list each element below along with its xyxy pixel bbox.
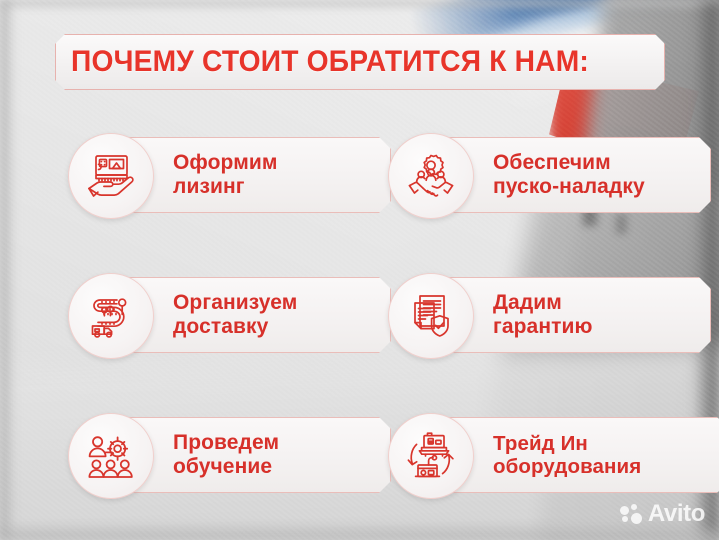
feature-icon-badge bbox=[68, 133, 154, 219]
handshake-gear-people-icon bbox=[405, 150, 457, 202]
hand-holding-machine-icon bbox=[85, 150, 137, 202]
feature-pill: Организуем доставку bbox=[114, 277, 391, 353]
feature-icon-badge bbox=[388, 413, 474, 499]
feature-grid: Оформим лизинг bbox=[0, 0, 719, 540]
feature-pill: Проведем обучение bbox=[114, 417, 391, 493]
truck-route-icon bbox=[84, 289, 138, 343]
document-shield-check-icon bbox=[405, 290, 457, 342]
feature-icon-badge bbox=[68, 273, 154, 359]
feature-pill: Обеспечим пуско-наладку bbox=[434, 137, 711, 213]
avito-watermark: Avito bbox=[620, 500, 705, 528]
feature-pill: Оформим лизинг bbox=[114, 137, 391, 213]
person-gear-group-icon bbox=[84, 429, 138, 483]
feature-pill: Трейд Ин оборудования bbox=[434, 417, 719, 493]
avito-brand-text: Avito bbox=[648, 500, 705, 528]
feature-icon-badge bbox=[68, 413, 154, 499]
feature-pill: Дадим гарантию bbox=[434, 277, 711, 353]
machine-exchange-arrows-icon bbox=[404, 429, 458, 483]
feature-icon-badge bbox=[388, 273, 474, 359]
avito-dots-logo-icon bbox=[620, 504, 643, 525]
feature-icon-badge bbox=[388, 133, 474, 219]
